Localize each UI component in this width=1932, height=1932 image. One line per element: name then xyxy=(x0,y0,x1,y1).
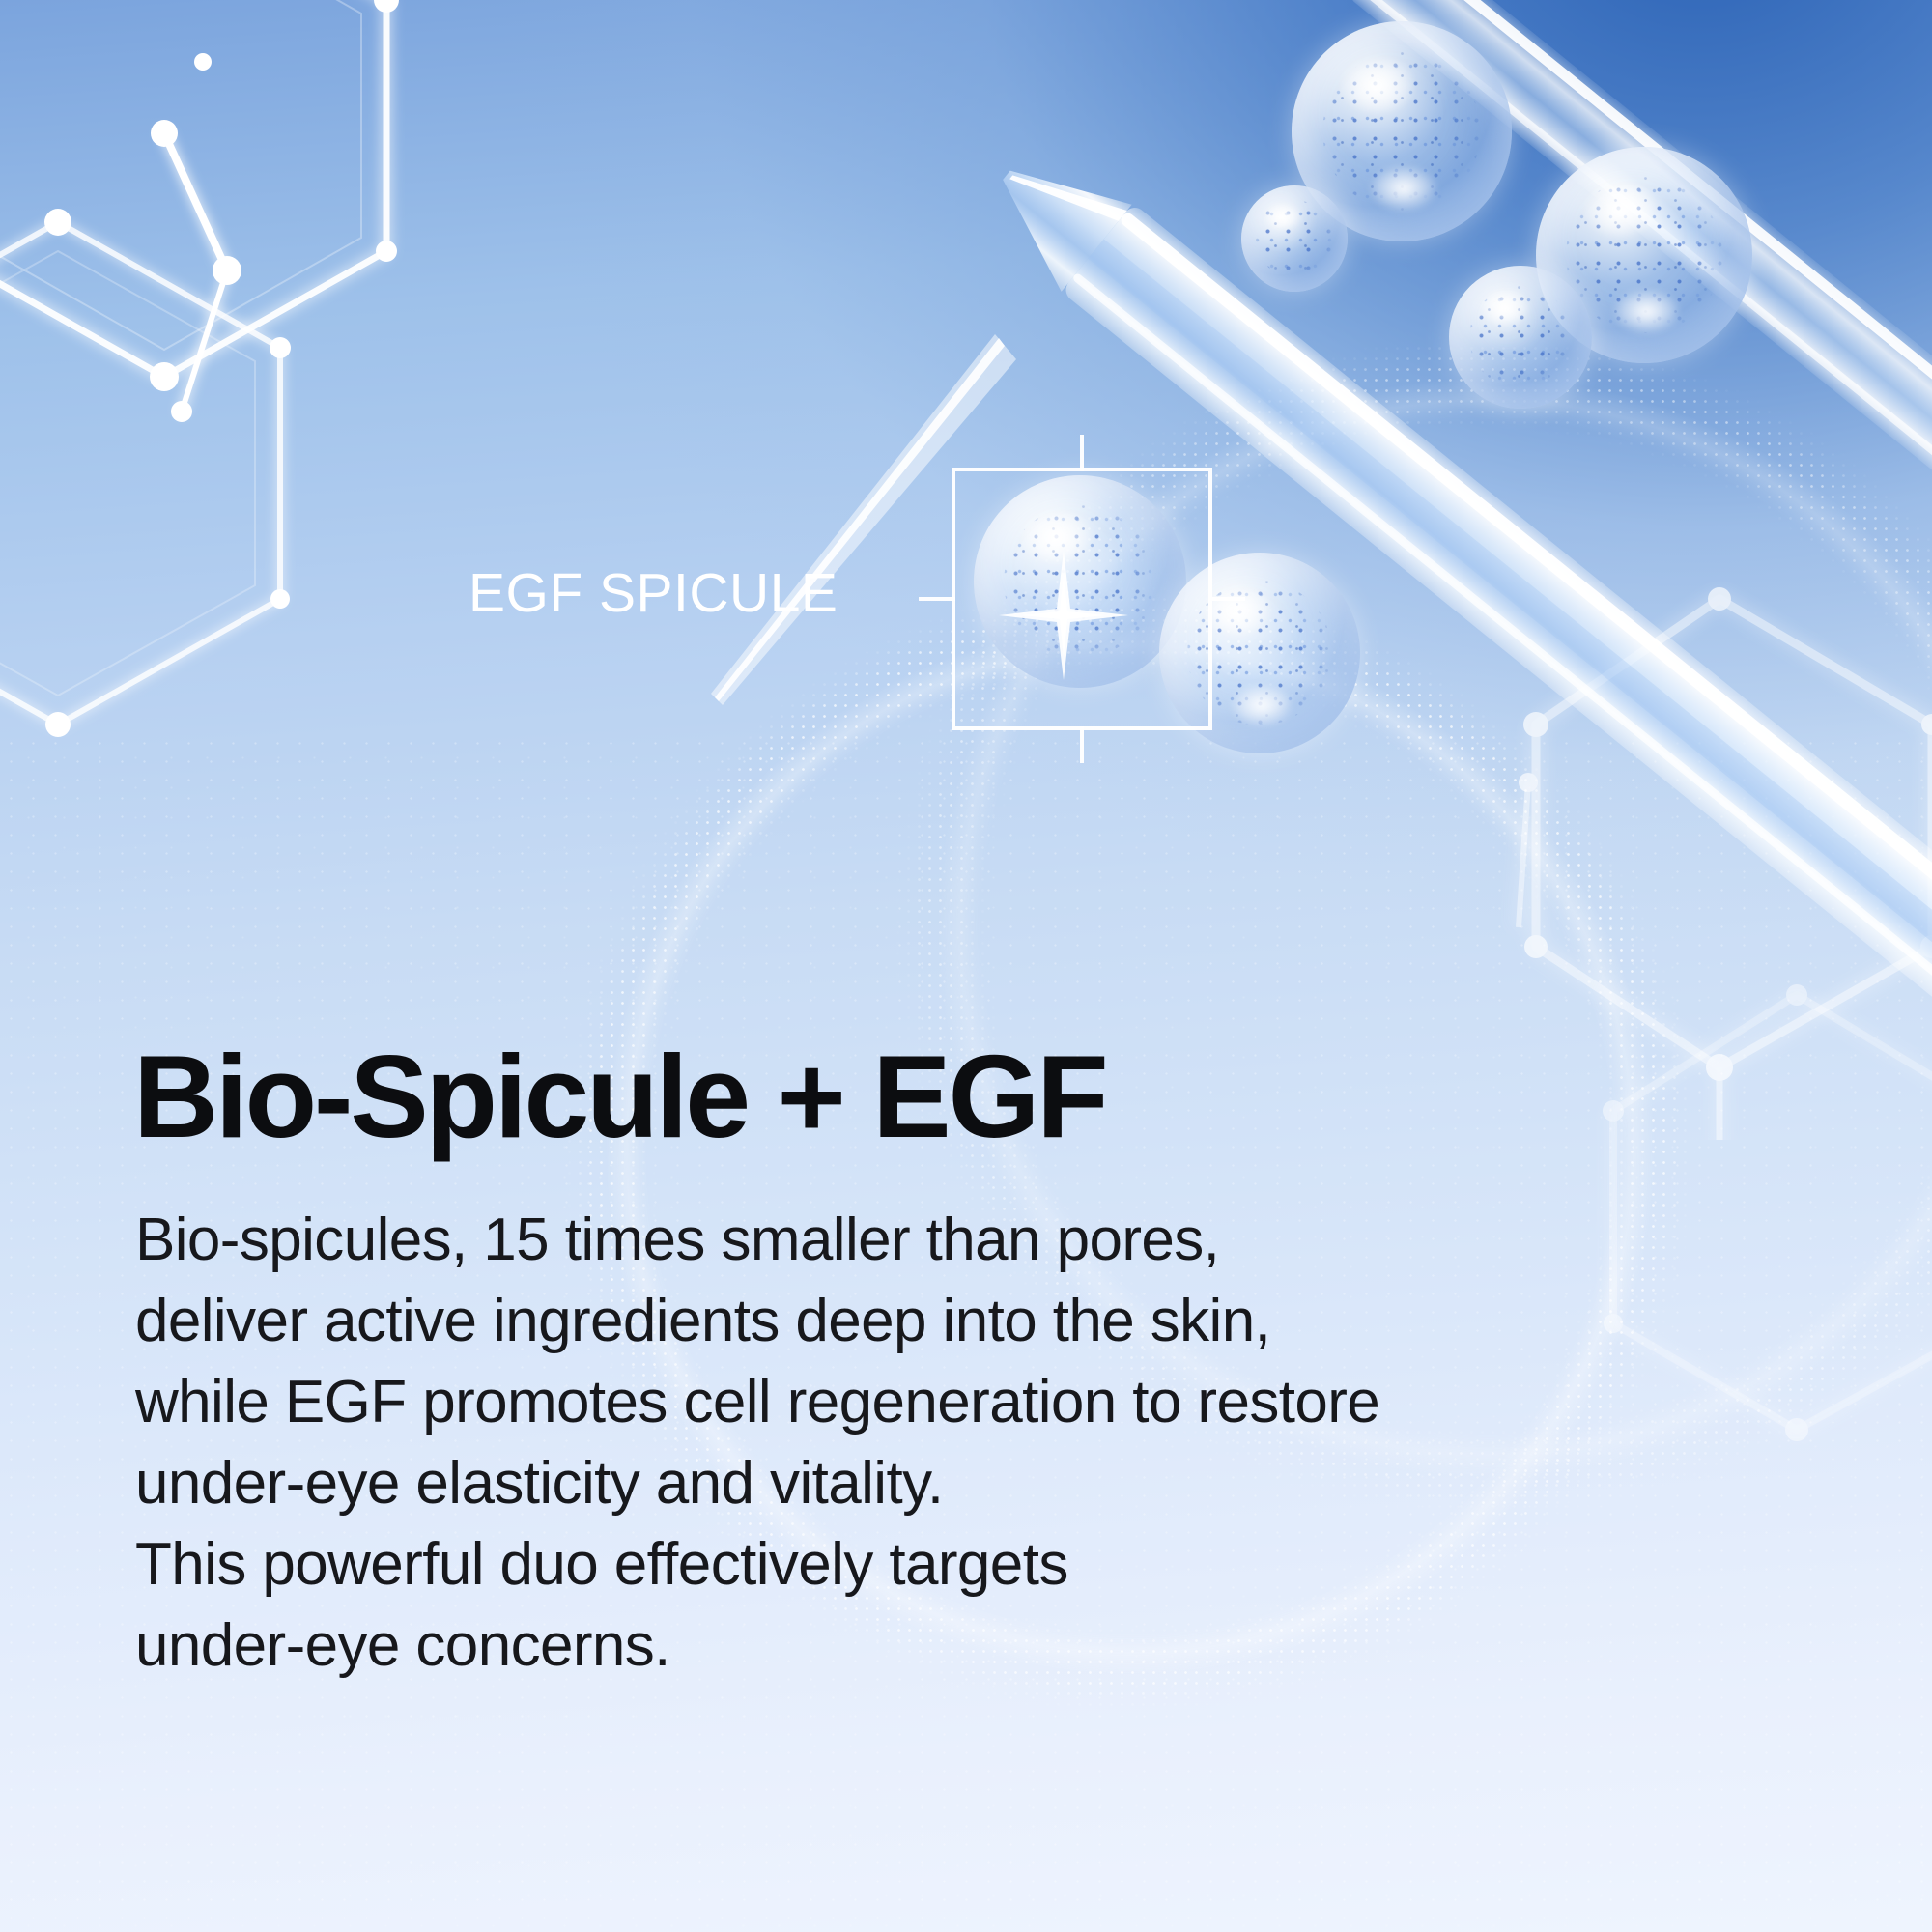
droplet-highlight-lower xyxy=(1371,166,1436,211)
description-line: deliver active ingredients deep into the… xyxy=(135,1281,1835,1362)
droplet-highlight xyxy=(1481,289,1529,326)
page-title: Bio-Spicule + EGF xyxy=(133,1037,1106,1155)
description-paragraph: Bio-spicules, 15 times smaller than pore… xyxy=(135,1200,1835,1687)
droplet-highlight-lower xyxy=(1614,290,1679,333)
promo-card: EGF SPICULE Bio-Spicule + EGF Bio-spicul… xyxy=(0,0,1932,1932)
reticle-tick-right xyxy=(1208,597,1245,601)
droplet-small-bottom xyxy=(1449,266,1592,409)
droplet-highlight xyxy=(1340,56,1415,113)
droplet-highlight xyxy=(1583,182,1657,238)
droplet-highlight-lower xyxy=(1232,685,1292,725)
description-line: This powerful duo effectively targets xyxy=(135,1524,1835,1605)
droplet-highlight xyxy=(1264,203,1300,231)
droplet-small-left xyxy=(1241,185,1348,292)
reticle-tick-bottom xyxy=(1080,726,1084,763)
description-line: while EGF promotes cell regeneration to … xyxy=(135,1362,1835,1443)
description-line: Bio-spicules, 15 times smaller than pore… xyxy=(135,1200,1835,1281)
description-line: under-eye elasticity and vitality. xyxy=(135,1443,1835,1524)
egf-spicule-callout-label: EGF SPICULE xyxy=(469,566,838,621)
description-line: under-eye concerns. xyxy=(135,1605,1835,1687)
focus-reticle xyxy=(952,468,1212,730)
reticle-tick-left xyxy=(919,597,955,601)
reticle-tick-top xyxy=(1080,435,1084,471)
